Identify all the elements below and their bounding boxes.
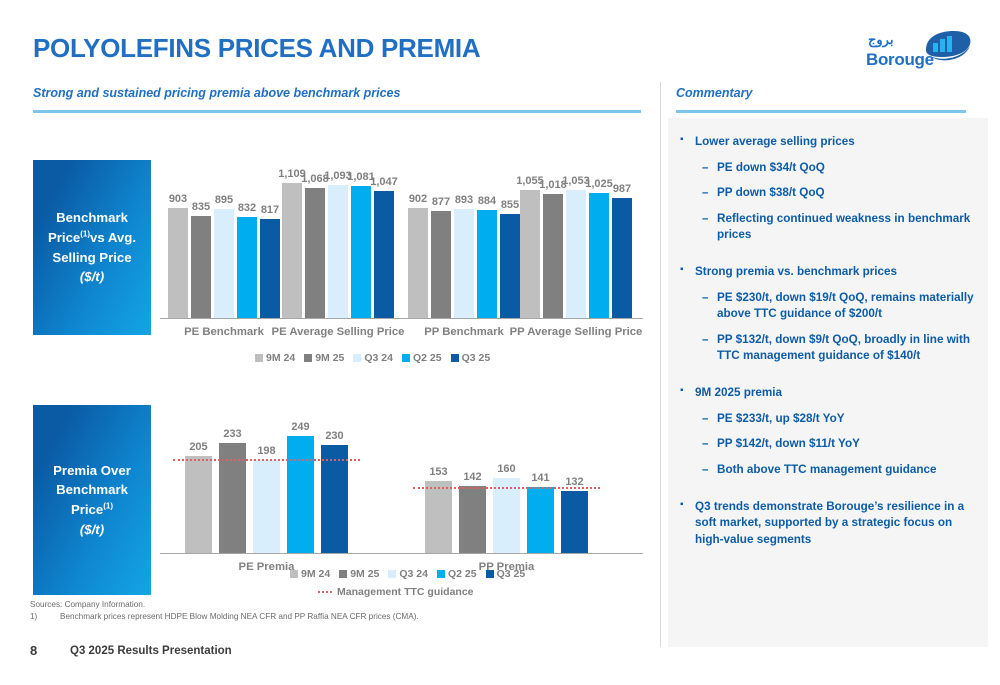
legend-item: 9M 25 xyxy=(304,352,344,364)
legend-label: Q3 24 xyxy=(399,568,428,580)
chart-premia-guidance-legend: Management TTC guidance xyxy=(318,586,474,598)
commentary-subitem: PP down $38/t QoQ xyxy=(678,185,980,202)
legend-item: Q3 25 xyxy=(451,352,491,364)
panel-units: ($/t) xyxy=(80,267,104,287)
commentary-underline xyxy=(676,110,966,113)
bar-value-label: 1,047 xyxy=(366,176,402,188)
chart-prices: 903835895832817PE Benchmark1,1091,0681,0… xyxy=(160,160,650,360)
bar xyxy=(408,208,428,318)
legend-label: Q3 24 xyxy=(364,352,393,364)
legend-swatch xyxy=(353,354,361,362)
chart-category-label: PP Average Selling Price xyxy=(486,326,666,338)
footnote-text: Benchmark prices represent HDPE Blow Mol… xyxy=(60,612,419,621)
bar xyxy=(520,190,540,318)
legend-swatch xyxy=(255,354,263,362)
legend-label: 9M 25 xyxy=(350,568,379,580)
panel-units: ($/t) xyxy=(80,520,104,540)
commentary-subitem: Both above TTC management guidance xyxy=(678,462,980,479)
commentary-heading: Q3 trends demonstrate Borouge’s resilien… xyxy=(678,499,980,549)
panel-benchmark-price: Benchmark Price(1)vs Avg. Selling Price … xyxy=(33,160,151,335)
page-number: 8 xyxy=(30,643,37,658)
commentary-subitem: PP $132/t, down $9/t QoQ, broadly in lin… xyxy=(678,332,980,365)
panel-line-2-b: vs Avg. xyxy=(90,230,136,245)
bar xyxy=(321,445,348,553)
bar xyxy=(287,436,314,553)
commentary-heading: Strong premia vs. benchmark prices xyxy=(678,264,980,281)
panel-line-3: Price(1) xyxy=(71,500,113,520)
commentary-title: Commentary xyxy=(676,86,752,100)
panel-line-2: Benchmark xyxy=(56,480,128,500)
bar xyxy=(459,486,486,553)
panel-line-3: Selling Price xyxy=(52,248,131,268)
legend-swatch xyxy=(339,570,347,578)
bar xyxy=(566,190,586,318)
slide: POLYOLEFINS PRICES AND PREMIA Strong and… xyxy=(0,0,1000,685)
bar-value-label: 230 xyxy=(313,430,356,442)
commentary-heading: 9M 2025 premia xyxy=(678,385,980,402)
page-subtitle: Strong and sustained pricing premia abov… xyxy=(33,86,400,100)
bar-value-label: 987 xyxy=(604,183,640,195)
panel-line-3-text: Price xyxy=(71,502,103,517)
commentary-subitem: Reflecting continued weakness in benchma… xyxy=(678,211,980,244)
legend-item: Q2 25 xyxy=(437,568,477,580)
spacer xyxy=(678,253,980,264)
bar-value-label: 132 xyxy=(553,476,596,488)
bar xyxy=(168,208,188,318)
bar xyxy=(374,191,394,318)
panel-line-1: Premia Over xyxy=(53,461,131,481)
legend-swatch xyxy=(451,354,459,362)
legend-item: Q3 24 xyxy=(353,352,393,364)
bar xyxy=(431,211,451,318)
legend-label: Q3 25 xyxy=(497,568,526,580)
bar xyxy=(214,209,234,318)
bar xyxy=(527,487,554,553)
bar xyxy=(425,481,452,553)
chart-prices-legend: 9M 249M 25Q3 24Q2 25Q3 25 xyxy=(255,352,495,364)
bar xyxy=(260,219,280,318)
bar-value-label: 205 xyxy=(177,441,220,453)
legend-label: 9M 24 xyxy=(301,568,330,580)
bar xyxy=(253,460,280,553)
bar-value-label: 198 xyxy=(245,445,288,457)
page-title: POLYOLEFINS PRICES AND PREMIA xyxy=(33,33,480,64)
guidance-line xyxy=(173,459,360,461)
legend-swatch xyxy=(388,570,396,578)
commentary-divider xyxy=(660,82,661,647)
footnote-marker: (1) xyxy=(103,502,113,511)
logo-swoosh-icon xyxy=(920,30,972,64)
legend-label: Q2 25 xyxy=(448,568,477,580)
commentary-subitem: PE $233/t, up $28/t YoY xyxy=(678,411,980,428)
legend-label: 9M 25 xyxy=(315,352,344,364)
footer-title: Q3 2025 Results Presentation xyxy=(70,645,232,657)
legend-label: Q3 25 xyxy=(462,352,491,364)
footnote-marker: (1) xyxy=(80,230,90,239)
panel-premia-over-benchmark: Premia Over Benchmark Price(1) ($/t) xyxy=(33,405,151,595)
legend-swatch xyxy=(486,570,494,578)
sources-note: Sources: Company Information. xyxy=(30,600,145,609)
bar xyxy=(237,217,257,318)
bar xyxy=(191,216,211,318)
dotted-line-icon xyxy=(318,591,332,593)
header-divider xyxy=(33,110,641,113)
commentary-subitem: PE down $34/t QoQ xyxy=(678,160,980,177)
logo-arabic-text: بروج xyxy=(868,32,893,48)
borouge-logo: بروج Borouge xyxy=(862,30,972,82)
panel-line-2: Price(1)vs Avg. xyxy=(48,228,136,248)
panel-line-2-a: Price xyxy=(48,230,80,245)
chart-axis-line xyxy=(160,553,643,554)
legend-swatch xyxy=(290,570,298,578)
legend-label: Q2 25 xyxy=(413,352,442,364)
legend-item: Q3 24 xyxy=(388,568,428,580)
bar xyxy=(185,456,212,553)
legend-item: Q2 25 xyxy=(402,352,442,364)
legend-swatch xyxy=(402,354,410,362)
bar xyxy=(500,214,520,318)
legend-swatch xyxy=(437,570,445,578)
commentary-subitem: PP $142/t, down $11/t YoY xyxy=(678,436,980,453)
bar xyxy=(589,193,609,318)
legend-item: 9M 25 xyxy=(339,568,379,580)
chart-axis-line xyxy=(160,318,643,319)
commentary-heading: Lower average selling prices xyxy=(678,134,980,151)
panel-line-1: Benchmark xyxy=(56,208,128,228)
bar xyxy=(454,209,474,318)
spacer xyxy=(678,374,980,385)
bar-value-label: 233 xyxy=(211,428,254,440)
bar xyxy=(282,183,302,318)
legend-item: 9M 24 xyxy=(290,568,330,580)
bar xyxy=(477,210,497,318)
bar xyxy=(612,198,632,318)
guidance-line xyxy=(413,487,600,489)
commentary-subitem: PE $230/t, down $19/t QoQ, remains mater… xyxy=(678,290,980,323)
legend-label: 9M 24 xyxy=(266,352,295,364)
footnote-number: 1) xyxy=(30,612,37,621)
chart-premia-legend: 9M 249M 25Q3 24Q2 25Q3 25 xyxy=(290,568,530,580)
legend-item: Q3 25 xyxy=(486,568,526,580)
bar xyxy=(351,186,371,318)
bar xyxy=(305,188,325,318)
legend-swatch xyxy=(304,354,312,362)
chart-premia: 205233198249230PE Premia153142160141132P… xyxy=(160,405,650,555)
bar xyxy=(328,185,348,318)
bar xyxy=(561,491,588,553)
legend-item: 9M 24 xyxy=(255,352,295,364)
bar xyxy=(543,194,563,318)
guidance-legend-label: Management TTC guidance xyxy=(337,586,474,598)
commentary-panel: Lower average selling prices PE down $34… xyxy=(668,118,988,647)
spacer xyxy=(678,488,980,499)
